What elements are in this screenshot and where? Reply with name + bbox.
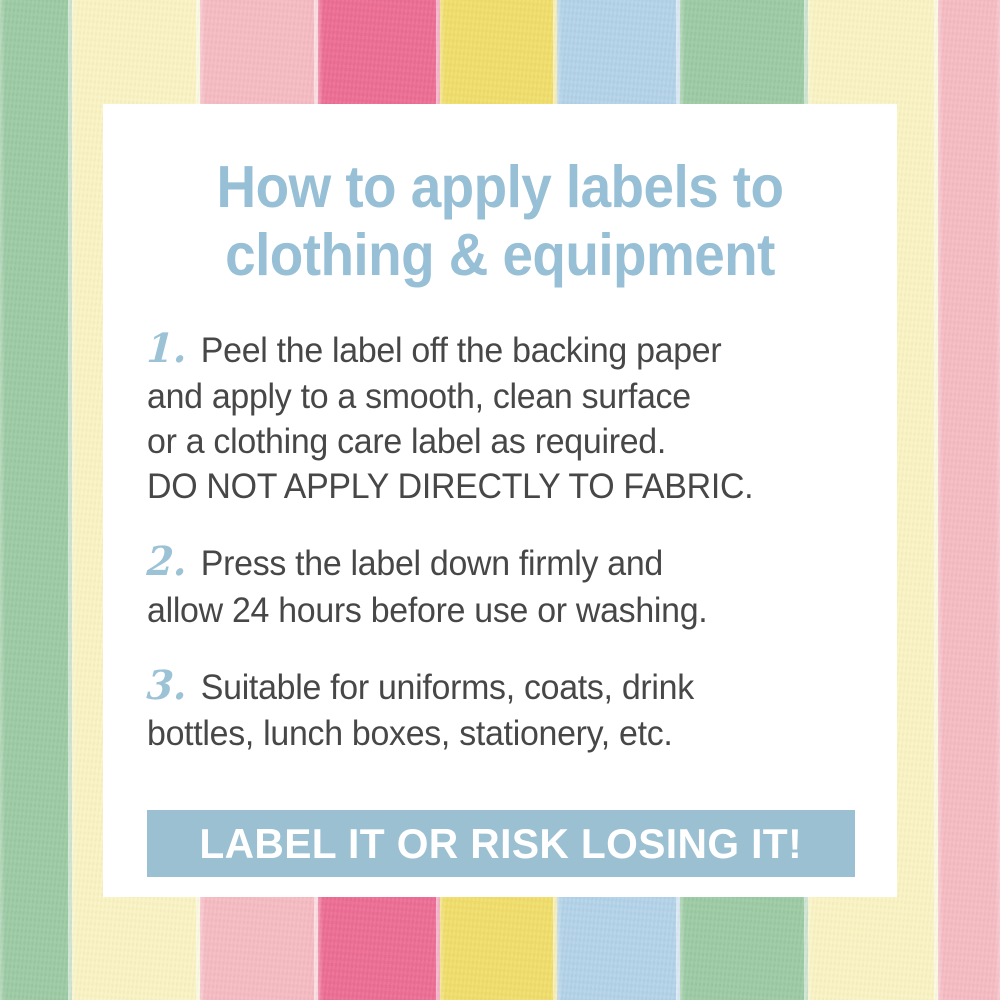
step-text-3: Suitable for uniforms, coats, drink bott… <box>147 667 694 754</box>
step-2: 2. Press the label down firmly and allow… <box>147 537 821 633</box>
background-stripe-pink <box>938 0 1000 1000</box>
poster: How to apply labels to clothing & equipm… <box>0 0 1000 1000</box>
banner-label: LABEL IT OR RISK LOSING IT! <box>200 820 803 868</box>
step-number-2: 2. <box>145 537 188 588</box>
step-text-1: Peel the label off the backing paper and… <box>147 330 753 506</box>
step-1: 1. Peel the label off the backing paper … <box>147 324 821 509</box>
background-stripe-green <box>0 0 72 1000</box>
steps-list: 1. Peel the label off the backing paper … <box>147 324 853 756</box>
instruction-card: How to apply labels to clothing & equipm… <box>103 104 897 897</box>
step-number-3: 3. <box>145 661 188 712</box>
status-badge: LABEL IT OR RISK LOSING IT! <box>147 810 855 877</box>
step-number-1: 1. <box>145 324 188 375</box>
page-title: How to apply labels to clothing & equipm… <box>172 154 829 290</box>
step-text-2: Press the label down firmly and allow 24… <box>147 543 707 630</box>
step-3: 3. Suitable for uniforms, coats, drink b… <box>147 661 821 757</box>
